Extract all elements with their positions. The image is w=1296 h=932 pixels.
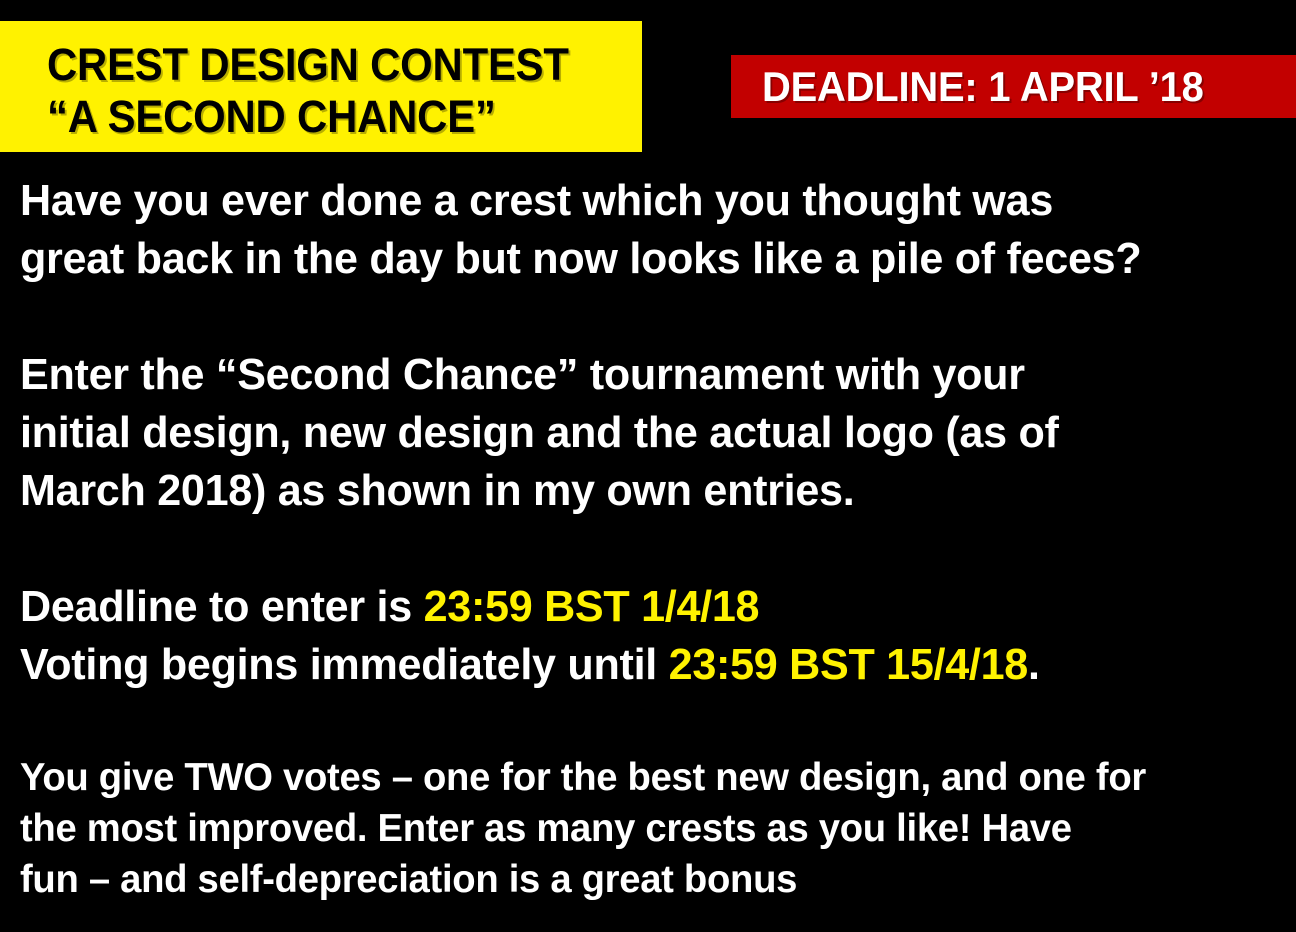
paragraph-intro: Have you ever done a crest which you tho… [20,172,1263,288]
voting-deadline-label: Voting begins immediately until [20,640,669,689]
paragraph-how-to-enter-line-2: initial design, new design and the actua… [20,408,1059,457]
voting-deadline-line: Voting begins immediately until 23:59 BS… [20,640,1040,689]
deadline-banner-text: DEADLINE: 1 APRIL ’18 [762,65,1204,109]
voting-deadline-value: 23:59 BST 15/4/18 [669,640,1028,689]
paragraph-intro-line-2: great back in the day but now looks like… [20,234,1141,283]
deadline-banner: DEADLINE: 1 APRIL ’18 [731,55,1296,118]
contest-title-banner: CREST DESIGN CONTEST “A SECOND CHANCE” [0,21,642,152]
entry-deadline-line: Deadline to enter is 23:59 BST 1/4/18 [20,582,759,631]
poster-root: CREST DESIGN CONTEST “A SECOND CHANCE” D… [0,0,1296,932]
paragraph-how-to-enter: Enter the “Second Chance” tournament wit… [20,346,1263,520]
paragraph-voting-rules-line-3: fun – and self-depreciation is a great b… [20,858,797,901]
contest-title-line-2: “A SECOND CHANCE” [47,91,600,143]
paragraph-intro-line-1: Have you ever done a crest which you tho… [20,176,1053,225]
entry-deadline-value: 23:59 BST 1/4/18 [424,582,760,631]
paragraph-how-to-enter-line-3: March 2018) as shown in my own entries. [20,466,854,515]
paragraph-voting-rules: You give TWO votes – one for the best ne… [20,752,1263,905]
paragraph-voting-rules-line-1: You give TWO votes – one for the best ne… [20,756,1146,799]
paragraph-voting-rules-line-2: the most improved. Enter as many crests … [20,807,1072,850]
contest-title-line-1: CREST DESIGN CONTEST [47,39,600,91]
paragraph-how-to-enter-line-1: Enter the “Second Chance” tournament wit… [20,350,1025,399]
paragraph-dates: Deadline to enter is 23:59 BST 1/4/18 Vo… [20,578,1263,694]
entry-deadline-label: Deadline to enter is [20,582,424,631]
poster-body: Have you ever done a crest which you tho… [20,172,1288,905]
voting-deadline-period: . [1028,640,1040,689]
header-banners: CREST DESIGN CONTEST “A SECOND CHANCE” D… [0,0,1296,160]
